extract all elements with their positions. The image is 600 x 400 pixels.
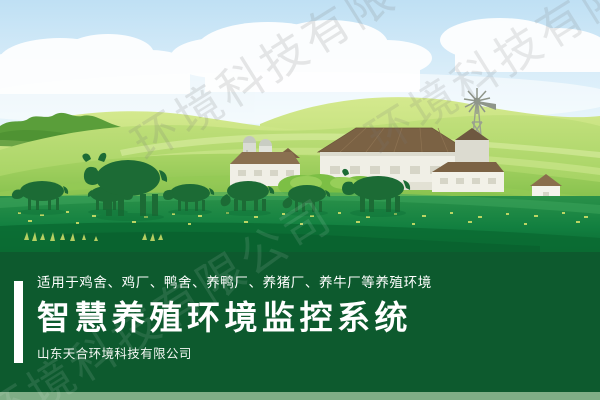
banner-subtitle: 适用于鸡舍、鸡厂、鸭舍、养鸭厂、养猪厂、养牛厂等养殖环境 [37,274,577,292]
page-title: 智慧养殖环境监控系统 [37,296,577,340]
banner-inner: 适用于鸡舍、鸡厂、鸭舍、养鸭厂、养猪厂、养牛厂等养殖环境 智慧养殖环境监控系统 … [0,252,600,392]
farm-illustration [0,0,600,252]
accent-bar [14,281,23,363]
poster-root: 环境科技有限公司 环境科技有限公司 环境科技有限公司 适用于鸡舍、鸡厂、鸭舍、养… [0,0,600,400]
title-banner: 适用于鸡舍、鸡厂、鸭舍、养鸭厂、养猪厂、养牛厂等养殖环境 智慧养殖环境监控系统 … [0,252,600,392]
company-name: 山东天合环境科技有限公司 [37,346,577,363]
banner-text-block: 适用于鸡舍、鸡厂、鸭舍、养鸭厂、养猪厂、养牛厂等养殖环境 智慧养殖环境监控系统 … [37,274,577,363]
bottom-strip [0,392,600,400]
windmill-barn [432,162,504,192]
